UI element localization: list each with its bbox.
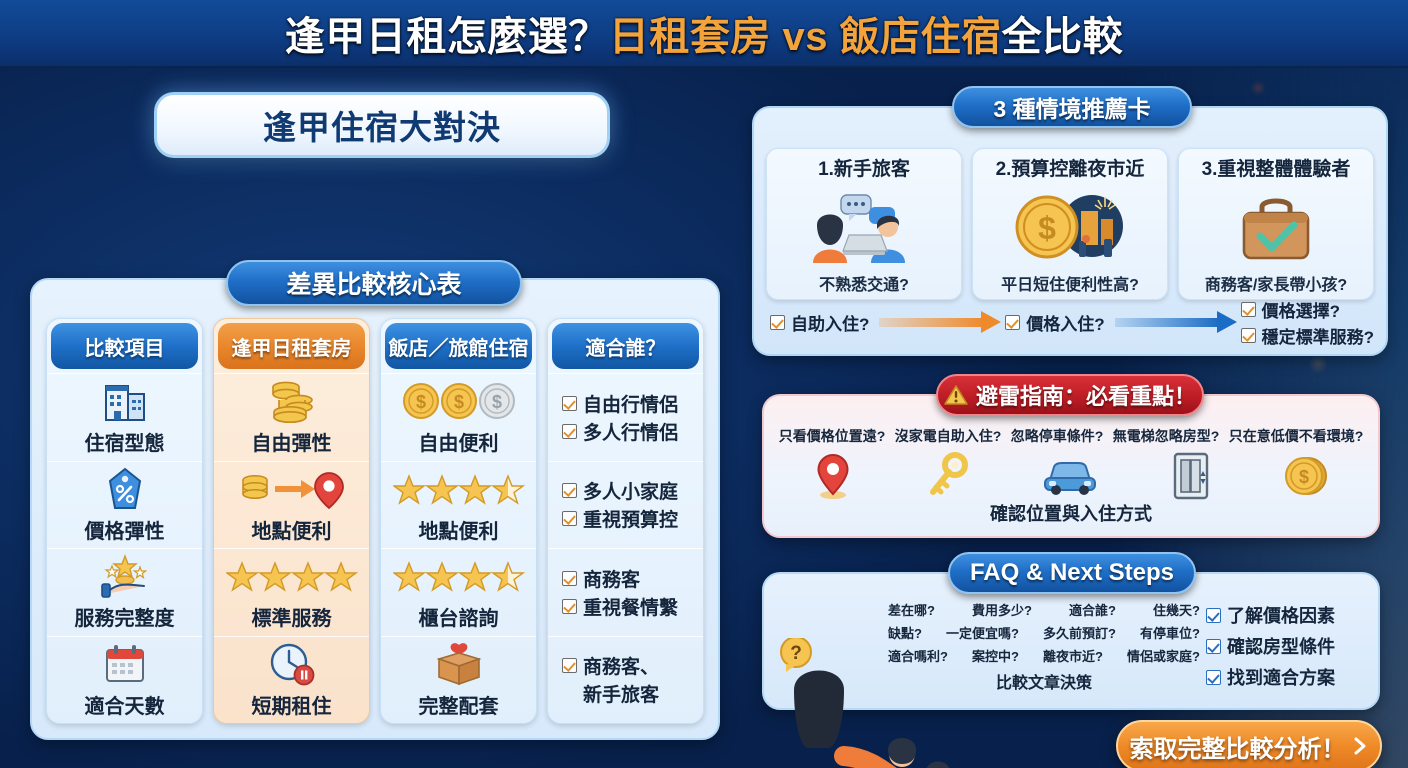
- cell-audience-4: 商務客、 新手旅客: [548, 636, 703, 724]
- scenario-2-sub: 平日短住便利性高?: [1001, 271, 1139, 295]
- coin-stack-icon: [266, 378, 318, 424]
- audience-item: 重視預算控: [562, 505, 678, 532]
- scenarios-badge-label: 3 種情境推薦卡: [993, 90, 1150, 124]
- daily-flexible-label: 自由彈性: [252, 427, 332, 456]
- check-icon: [562, 599, 577, 614]
- scenario-card-3[interactable]: 3.重視整體體驗者 商務客/家長帶小孩?: [1178, 148, 1374, 300]
- flow-step-2-label: 價格入住?: [1026, 310, 1104, 335]
- faq-q: 費用多少?: [972, 600, 1032, 619]
- map-pin-icon: [814, 452, 852, 500]
- scenario-1-title: 1.新手旅客: [818, 154, 910, 181]
- criteria-type-label: 住宿型態: [85, 427, 165, 456]
- criteria-days-label: 適合天數: [85, 690, 165, 719]
- audience-item: 商務客: [562, 565, 640, 592]
- cell-audience-1: 自由行情侶 多人行情侶: [548, 373, 703, 461]
- audience-label: 多人小家庭: [583, 477, 678, 504]
- audience-label: 商務客、: [583, 652, 659, 679]
- criteria-price-label: 價格彈性: [85, 515, 165, 544]
- check-icon: [562, 483, 577, 498]
- avoid-label-4: 無電梯忽略房型?: [1113, 426, 1220, 446]
- avoid-label-1: 只看價格位置遠?: [779, 426, 886, 446]
- cell-audience-3: 商務客 重視餐情繫: [548, 548, 703, 636]
- faq-row-1: 差在哪? 費用多少? 適合誰? 住幾天?: [888, 600, 1200, 619]
- scenario-card-2[interactable]: 2.預算控離夜市近: [972, 148, 1168, 300]
- audience-item: 重視餐情繫: [562, 593, 678, 620]
- scenario-list: 1.新手旅客: [766, 148, 1374, 300]
- car-icon: [1042, 456, 1098, 496]
- cell-criteria-days: 適合天數: [47, 636, 202, 724]
- two-people-chat-icon: [803, 183, 925, 269]
- scenario-3-title: 3.重視整體體驗者: [1202, 154, 1351, 181]
- flow-step-2: 價格入住?: [1005, 310, 1104, 335]
- key-icon: [925, 452, 969, 500]
- cell-criteria-service: 服務完整度: [47, 548, 202, 636]
- cell-daily-location: 地點便利: [214, 461, 369, 549]
- audience-label: 重視預算控: [583, 505, 678, 532]
- svg-text:$: $: [415, 392, 425, 412]
- gift-box-icon: [433, 641, 485, 687]
- cell-criteria-type: 住宿型態: [47, 373, 202, 461]
- check-icon: [1206, 639, 1221, 654]
- faq-q: 多久前預訂?: [1043, 623, 1116, 642]
- audience-label: 多人行情侶: [583, 418, 678, 445]
- scenario-card-1[interactable]: 1.新手旅客: [766, 148, 962, 300]
- faq-badge-label: FAQ & Next Steps: [970, 559, 1174, 587]
- avoid-guide-badge-label: 避雷指南：必看重點！: [976, 379, 1196, 411]
- faq-q: 情侶或家庭?: [1127, 646, 1200, 665]
- avoid-label-2: 沒家電自助入住?: [895, 426, 1002, 446]
- flow-step-1: 自助入住?: [770, 310, 869, 335]
- faq-next-steps: 了解價格因素 確認房型條件 找到適合方案: [1206, 600, 1368, 693]
- criteria-service-label: 服務完整度: [75, 602, 175, 631]
- svg-text:$: $: [453, 392, 463, 412]
- column-audience: 適合誰？ 自由行情侶 多人行情侶 多人小家庭: [547, 318, 704, 724]
- clock-icon: [266, 641, 318, 687]
- column-hotel: 飯店／旅館住宿 $ $: [380, 318, 537, 724]
- hotel-desk-label: 櫃台諮詢: [419, 602, 499, 631]
- column-header-hotel: 飯店／旅館住宿: [385, 323, 532, 369]
- arrow-right-blue-icon: [1109, 311, 1237, 333]
- flow-step-1-label: 自助入住?: [791, 310, 869, 335]
- audience-item: 自由行情侶: [562, 390, 678, 417]
- check-icon: [1206, 608, 1221, 623]
- comparison-columns: 比較項目: [46, 318, 704, 724]
- column-header-daily-rental: 逢甲日租套房: [218, 323, 365, 369]
- avoid-icon-row: $: [778, 450, 1364, 502]
- flow-step-3b-label: 穩定標準服務?: [1262, 323, 1374, 348]
- cell-hotel-location: 地點便利: [381, 461, 536, 549]
- check-icon: [562, 571, 577, 586]
- coin-icon: $: [1284, 453, 1328, 499]
- coins-to-pin-icon: [237, 466, 347, 512]
- avoid-footer: 確認位置與入住方式: [764, 500, 1378, 526]
- core-table-badge: 差異比較核心表: [226, 260, 522, 306]
- svg-text:?: ?: [790, 643, 802, 664]
- faq-q: 有停車位?: [1140, 623, 1200, 642]
- core-table-badge-label: 差異比較核心表: [286, 265, 461, 301]
- next-step-2: 確認房型條件: [1206, 633, 1368, 659]
- avoid-label-5: 只在意低價不看環境?: [1229, 426, 1364, 446]
- cell-hotel-convenient: $ $ $ 自由便利: [381, 373, 536, 461]
- comparison-table: 比較項目: [30, 278, 720, 740]
- arrow-right-orange-icon: [873, 311, 1001, 333]
- check-icon: [562, 396, 577, 411]
- cell-criteria-price: 價格彈性: [47, 461, 202, 549]
- check-icon: [1241, 328, 1256, 343]
- column-daily-rental: 逢甲日租套房: [213, 318, 370, 724]
- scenario-1-sub: 不熟悉交通?: [819, 271, 909, 295]
- people-illustration: ?: [756, 638, 986, 768]
- faq-q: 離夜市近?: [1043, 646, 1103, 665]
- main-headline-text: 逢甲住宿大對決: [263, 101, 501, 149]
- left-panel: 逢甲住宿大對決 差異比較核心表 比較項目: [18, 78, 730, 754]
- title-part-1: 逢甲日租怎麼選？: [285, 15, 609, 59]
- daily-service-label: 標準服務: [252, 602, 332, 631]
- chevron-right-icon: [1351, 735, 1369, 757]
- scenarios-badge: 3 種情境推薦卡: [952, 86, 1192, 128]
- elevator-icon: [1171, 451, 1211, 501]
- check-icon: [562, 658, 577, 673]
- audience-item: 多人小家庭: [562, 477, 678, 504]
- check-icon: [1206, 670, 1221, 685]
- audience-item: 多人行情侶: [562, 418, 678, 445]
- next-step-1-label: 了解價格因素: [1227, 602, 1335, 628]
- faq-q: 適合誰?: [1069, 600, 1116, 619]
- hotel-convenient-label: 自由便利: [419, 427, 499, 456]
- avoid-label-3: 忽略停車條件?: [1011, 426, 1104, 446]
- check-icon: [770, 315, 785, 330]
- audience-item: 商務客、: [562, 652, 659, 679]
- cell-hotel-desk: 櫃台諮詢: [381, 548, 536, 636]
- faq-q: 差在哪?: [888, 600, 935, 619]
- hotel-location-label: 地點便利: [419, 515, 499, 544]
- cell-daily-service: 標準服務: [214, 548, 369, 636]
- audience-label: 商務客: [583, 565, 640, 592]
- next-step-3-label: 找到適合方案: [1227, 664, 1335, 690]
- stars-4-icon: [226, 553, 358, 599]
- svg-text:$: $: [1299, 467, 1309, 487]
- scenarios-card: 1.新手旅客: [752, 106, 1388, 356]
- page-title: 逢甲日租怎麼選？日租套房 vs 飯店住宿全比較: [285, 4, 1123, 62]
- daily-location-label: 地點便利: [252, 515, 332, 544]
- cta-button[interactable]: 索取完整比較分析！: [1116, 720, 1382, 768]
- title-part-2: 全比較: [1002, 15, 1124, 59]
- scenario-2-title: 2.預算控離夜市近: [996, 154, 1145, 181]
- cell-audience-2: 多人小家庭 重視預算控: [548, 461, 703, 549]
- cell-hotel-package: 完整配套: [381, 636, 536, 724]
- check-icon: [1241, 302, 1256, 317]
- cell-daily-flexible: 自由彈性: [214, 373, 369, 461]
- check-icon: [562, 511, 577, 526]
- cta-label: 索取完整比較分析！: [1130, 729, 1346, 764]
- next-step-1: 了解價格因素: [1206, 602, 1368, 628]
- stars-3-5-icon-2: [393, 553, 525, 599]
- faq-q: 住幾天?: [1153, 600, 1200, 619]
- three-coins-icon: $ $ $: [401, 378, 517, 424]
- flow-step-3a-label: 價格選擇?: [1262, 297, 1340, 322]
- svg-text:$: $: [491, 392, 501, 412]
- calendar-icon: [103, 641, 147, 687]
- main-headline-card: 逢甲住宿大對決: [154, 92, 610, 158]
- warning-triangle-icon: [944, 384, 968, 406]
- avoid-guide-badge: 避雷指南：必看重點！: [936, 374, 1204, 416]
- flow-step-3b: 穩定標準服務?: [1241, 323, 1374, 348]
- hand-stars-icon: [100, 553, 150, 599]
- title-highlight: 日租套房 vs 飯店住宿: [609, 15, 1002, 59]
- next-step-2-label: 確認房型條件: [1227, 633, 1335, 659]
- audience-item: 新手旅客: [562, 680, 659, 707]
- scenario-flow: 自助入住? 價格入住? 價格選擇? 穩定標準服務?: [770, 298, 1374, 346]
- flow-step-3a: 價格選擇?: [1241, 297, 1374, 322]
- check-icon: [562, 424, 577, 439]
- avoid-label-row: 只看價格位置遠? 沒家電自助入住? 忽略停車條件? 無電梯忽略房型? 只在意低價…: [774, 426, 1368, 446]
- column-header-criteria: 比較項目: [51, 323, 198, 369]
- check-icon: [1005, 315, 1020, 330]
- next-step-3: 找到適合方案: [1206, 664, 1368, 690]
- audience-label: 新手旅客: [583, 680, 659, 707]
- price-tag-icon: [106, 466, 144, 512]
- column-criteria: 比較項目: [46, 318, 203, 724]
- stars-3-5-icon: [393, 466, 525, 512]
- hotel-package-label: 完整配套: [419, 690, 499, 719]
- flow-step-3: 價格選擇? 穩定標準服務?: [1241, 297, 1374, 348]
- faq-badge: FAQ & Next Steps: [948, 552, 1196, 594]
- right-panel: 3 種情境推薦卡 1.新手旅客: [748, 78, 1392, 754]
- building-icon: [102, 378, 148, 424]
- scenario-3-sub: 商務客/家長帶小孩?: [1205, 271, 1347, 295]
- bag-check-icon: [1226, 183, 1326, 269]
- audience-label: 自由行情侶: [583, 390, 678, 417]
- cell-daily-days: 短期租住: [214, 636, 369, 724]
- daily-days-label: 短期租住: [252, 690, 332, 719]
- audience-label: 重視餐情繫: [583, 593, 678, 620]
- svg-text:$: $: [1038, 210, 1056, 246]
- coin-nightmarket-icon: $: [1009, 183, 1131, 269]
- column-header-audience: 適合誰？: [552, 323, 699, 369]
- page-header: 逢甲日租怎麼選？日租套房 vs 飯店住宿全比較: [0, 0, 1408, 68]
